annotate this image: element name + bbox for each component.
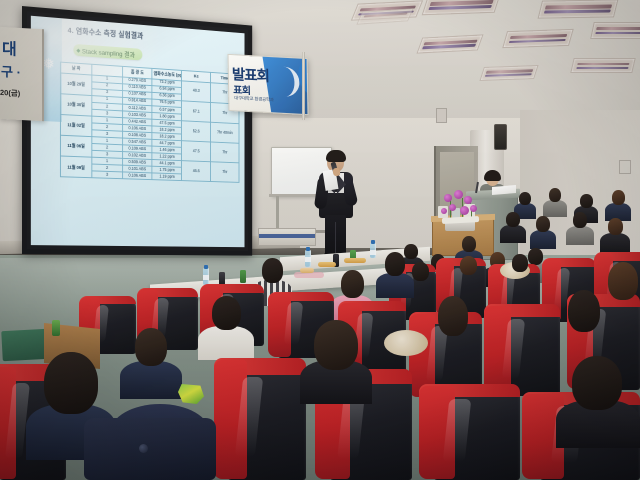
banner-left-line2: 구 ·: [1, 61, 21, 81]
banner-organization: 대구대학교 환경공학과: [234, 95, 274, 103]
audience-member: [600, 218, 630, 252]
cell-absorbance: 0.106 ABS: [122, 172, 152, 180]
slide-title: 4. 염화수소 측정 실험결과: [68, 26, 144, 42]
auditorium-seat[interactable]: [228, 366, 306, 480]
orchid-bloom: [464, 196, 472, 204]
ceiling-light-fixture: [479, 65, 538, 81]
orchid-bloom: [460, 206, 469, 215]
cell-date: 10월 30일: [60, 94, 91, 116]
slide-bullet: Stack sampling 결과: [73, 44, 142, 61]
projection-screen-surface: ❄ ❅ ❆ 4. 염화수소 측정 실험결과 Stack sampling 결과 …: [31, 16, 245, 247]
audience-member: [198, 296, 254, 358]
audience-member: [500, 212, 526, 242]
fur-hood: [384, 330, 428, 356]
snack-food: [318, 262, 336, 267]
wall-speaker: [494, 124, 507, 150]
backpack: [84, 418, 216, 480]
audience-member: [505, 254, 535, 276]
orchid-bloom: [454, 190, 463, 199]
orchid-plant: [440, 188, 486, 234]
orchid-bloom: [441, 208, 447, 214]
audience-member: [376, 252, 414, 296]
cell-concentration: 1.19 ppm: [152, 173, 181, 181]
wall-banner-left: 대 구 · 20(금): [0, 27, 44, 121]
slide-data-table: 날 짜 흡 광 도 염화수소농도 (ppm) Kc Time 10월 29일10…: [60, 62, 239, 183]
audience-member: [605, 190, 631, 220]
auditorium-seat[interactable]: [434, 390, 520, 480]
cell-date: 11월 09일: [60, 156, 91, 178]
banner-support-pole: [302, 52, 305, 120]
audience-member: [300, 320, 372, 400]
snowflake-icon: ❅: [43, 56, 55, 72]
audience-member: [604, 262, 640, 308]
audience-member: [530, 216, 556, 248]
water-bottle: [203, 268, 209, 285]
presenter-leg-split: [335, 222, 337, 254]
moderator-hair: [484, 170, 501, 181]
ceiling-light-fixture: [502, 29, 574, 48]
wall-plate: [619, 160, 631, 174]
cell-time: 7hr: [211, 142, 239, 163]
orchid-bloom: [449, 204, 456, 211]
cell-kc: 47.5: [182, 141, 211, 162]
audience-member: [452, 256, 484, 280]
beverage-can: [240, 270, 246, 283]
cell-run-number: 3: [92, 171, 123, 179]
ceiling-light-fixture: [570, 58, 635, 73]
cell-kc: 67.1: [182, 101, 211, 122]
audience-member: [543, 188, 567, 216]
beverage-can: [52, 320, 60, 336]
snack-food: [344, 258, 366, 263]
presenter: [313, 152, 361, 260]
low-cabinet: [258, 228, 316, 246]
water-bottle: [305, 250, 311, 267]
lecture-hall-photo: ❄ ❅ ❆ 4. 염화수소 측정 실험결과 Stack sampling 결과 …: [0, 0, 640, 480]
orchid-bloom: [444, 194, 452, 202]
cell-date: 11월 02일: [60, 114, 91, 136]
audience-member: [120, 328, 182, 396]
audience-member: [556, 356, 640, 444]
cell-kc: 52.6: [182, 121, 211, 142]
wall-mounted-box: [436, 108, 447, 123]
cell-time: 7hr: [211, 162, 239, 183]
snack-food: [300, 268, 314, 273]
ceiling-light-fixture: [590, 22, 640, 39]
projection-screen: ❄ ❅ ❆ 4. 염화수소 측정 실험결과 Stack sampling 결과 …: [22, 6, 252, 256]
backpack-buckle: [139, 444, 148, 453]
cell-time: 7hr 40min: [211, 122, 239, 143]
cell-kc: 46.6: [182, 161, 211, 182]
banner-left-line3: 20(금): [0, 87, 20, 99]
cell-date: 11월 06일: [60, 135, 91, 157]
audience-member: [426, 296, 480, 350]
ceiling-light-fixture: [538, 0, 619, 19]
event-banner: 발표회 표회 대구대학교 환경공학과: [228, 54, 309, 115]
audience-member: [566, 212, 594, 244]
orchid-bloom: [470, 205, 477, 212]
banner-left-line1: 대: [2, 35, 16, 60]
cell-kc: 48.3: [182, 81, 211, 103]
cell-date: 10월 29일: [60, 73, 91, 96]
presenter-hair: [326, 150, 346, 162]
